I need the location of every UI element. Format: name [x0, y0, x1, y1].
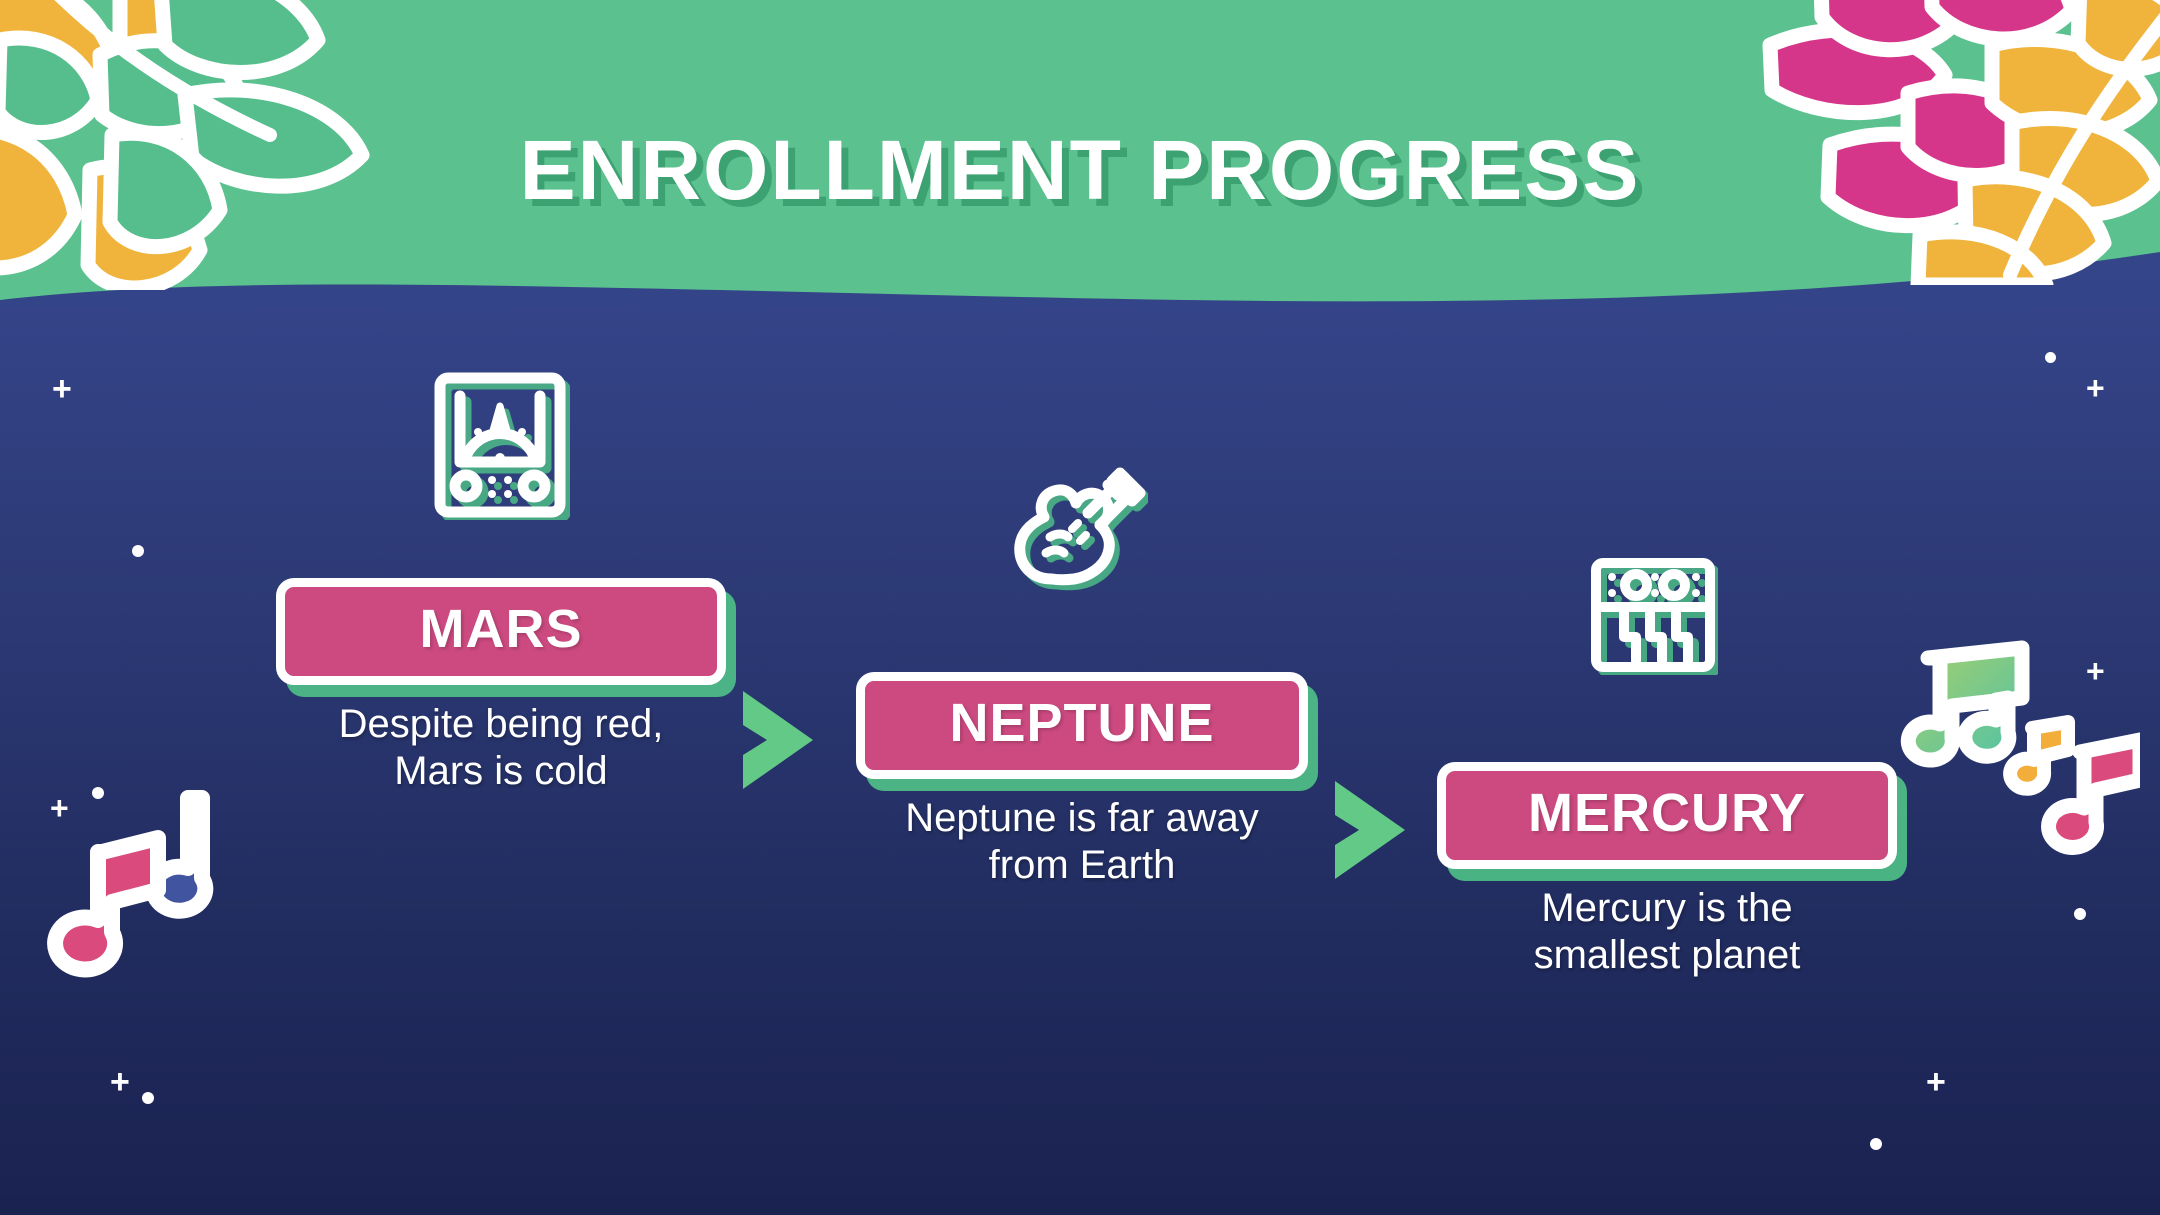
slide-canvas: + + + + + + ENROLLMENT PROGRESS	[0, 0, 2160, 1215]
step-label: MERCURY	[1490, 785, 1844, 842]
caption-line: Mercury is the	[1437, 885, 1897, 932]
step-card-mars[interactable]: MARS Despite being red, Mars is cold	[276, 578, 726, 795]
caption-line: from Earth	[856, 842, 1308, 889]
step-caption: Neptune is far away from Earth	[856, 795, 1308, 889]
sparkle-icon: +	[50, 792, 69, 824]
sparkle-icon: +	[1926, 1065, 1946, 1099]
chevron-right-icon	[1327, 775, 1417, 885]
step-label: MARS	[329, 601, 673, 658]
caption-line: smallest planet	[1437, 932, 1897, 979]
step-card-mercury[interactable]: MERCURY Mercury is the smallest planet	[1437, 762, 1897, 979]
violin-icon	[1008, 455, 1148, 600]
step-chip-mars[interactable]: MARS	[276, 578, 726, 685]
step-caption: Mercury is the smallest planet	[1437, 885, 1897, 979]
dot-icon	[1870, 1138, 1882, 1150]
page-title: ENROLLMENT PROGRESS	[0, 122, 2160, 219]
chevron-right-icon	[735, 685, 825, 795]
sparkle-icon: +	[2086, 372, 2105, 404]
sparkle-icon: +	[110, 1065, 130, 1099]
dot-icon	[2045, 352, 2056, 363]
sparkle-icon: +	[2086, 655, 2105, 687]
amplifier-icon	[430, 370, 570, 525]
caption-line: Despite being red,	[276, 701, 726, 748]
step-label: NEPTUNE	[909, 695, 1255, 752]
quarter-note-icon	[153, 798, 205, 911]
step-chip-neptune[interactable]: NEPTUNE	[856, 672, 1308, 779]
sparkle-icon: +	[52, 372, 72, 406]
beamed-notes-icon	[1908, 648, 2022, 760]
dot-icon	[92, 787, 104, 799]
step-caption: Despite being red, Mars is cold	[276, 701, 726, 795]
eighth-note-icon	[55, 838, 158, 969]
dot-icon	[142, 1092, 154, 1104]
caption-line: Neptune is far away	[856, 795, 1308, 842]
dot-icon	[2074, 908, 2086, 920]
music-notes-decoration-bottom-left	[40, 780, 240, 980]
eighth-note-icon	[2010, 722, 2068, 789]
step-chip-mercury[interactable]: MERCURY	[1437, 762, 1897, 869]
step-card-neptune[interactable]: NEPTUNE Neptune is far away from Earth	[856, 672, 1308, 889]
synthesizer-keyboard-icon	[1588, 555, 1718, 680]
dot-icon	[132, 545, 144, 557]
eighth-note-icon	[2049, 740, 2140, 847]
caption-line: Mars is cold	[276, 748, 726, 795]
